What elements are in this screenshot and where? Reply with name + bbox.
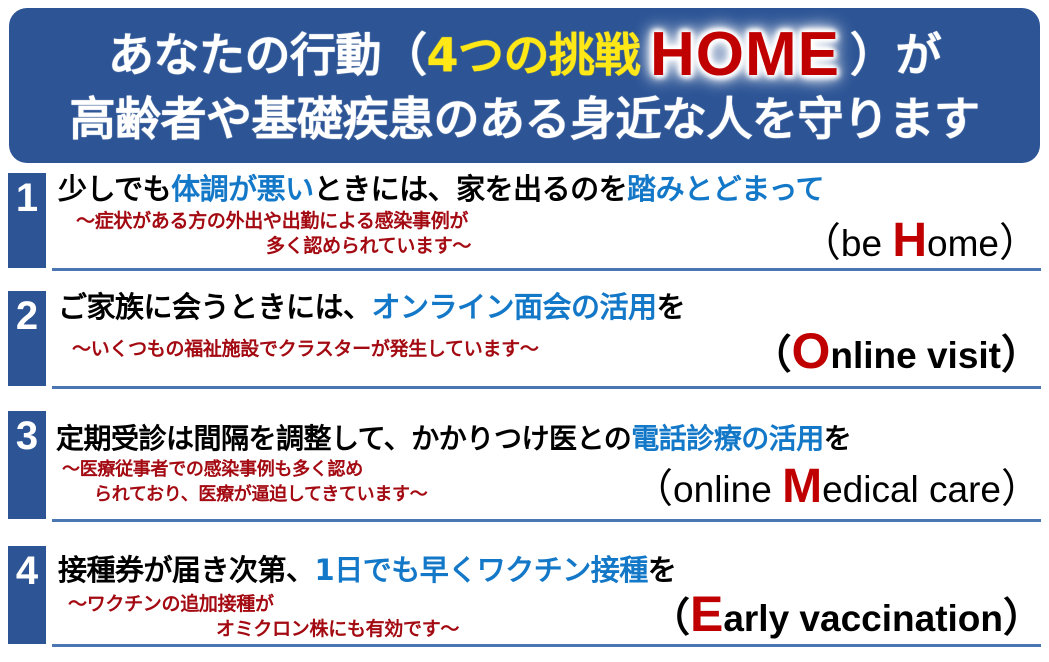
headline-part-emphasis: オンライン面会の活用 — [372, 290, 657, 324]
headline-part: ときには、家を出るのを — [314, 172, 628, 206]
section-number-badge-3: 3 — [8, 411, 46, 519]
section-divider-3 — [52, 519, 1041, 522]
english-rest: edical care — [822, 469, 1001, 510]
section-english-phrase-3: （online Medical care） — [633, 465, 1041, 512]
challenge-section-3: 3 定期受診は間隔を調整して、かかりつけ医との電話診療の活用を 〜医療従事者での… — [0, 409, 1049, 531]
headline-part: を — [648, 553, 677, 587]
section-headline-3: 定期受診は間隔を調整して、かかりつけ医との電話診療の活用を — [56, 421, 851, 457]
note-line-1: 〜いくつもの福祉施設でクラスターが発生しています〜 — [72, 338, 539, 360]
section-headline-1: 少しでも体調が悪いときには、家を出るのを踏みとどまって — [58, 171, 824, 207]
section-number-badge-4: 4 — [8, 546, 46, 644]
paren-close: ） — [999, 221, 1039, 265]
banner-line-2: 高齢者や基礎疾患のある身近な人を守ります — [9, 90, 1040, 148]
paren-open: （ — [801, 221, 841, 265]
banner-text-suffix: ）が — [850, 28, 941, 82]
paren-close: ） — [1001, 333, 1041, 377]
english-prefix: be — [841, 223, 892, 264]
note-line-1: 〜医療従事者での感染事例も多く認め — [62, 459, 363, 480]
challenge-section-1: 1 少しでも体調が悪いときには、家を出るのを踏みとどまって 〜症状がある方の外出… — [0, 171, 1049, 279]
section-divider-2 — [52, 386, 1041, 389]
paren-open: （ — [650, 596, 690, 640]
banner-text-highlight: 4つの挑戦 — [426, 28, 640, 82]
english-acronym-letter: H — [892, 214, 927, 267]
english-acronym-letter: O — [791, 323, 830, 379]
section-note-4: 〜ワクチンの追加接種が オミクロン株にも有効です〜 — [68, 592, 459, 642]
paren-open: （ — [751, 333, 791, 377]
banner-line-1: あなたの行動（4つの挑戦HOME）が — [9, 22, 1040, 84]
headline-part: ご家族に会うときには、 — [58, 290, 372, 324]
note-line-2: オミクロン株にも有効です〜 — [68, 617, 459, 642]
banner-text-prefix: あなたの行動（ — [108, 28, 427, 82]
challenge-section-4: 4 接種券が届き次第、1日でも早くワクチン接種を 〜ワクチンの追加接種が オミク… — [0, 544, 1049, 656]
section-note-1: 〜症状がある方の外出や出勤による感染事例が 多く認められています〜 — [76, 209, 471, 259]
paren-close: ） — [1001, 467, 1041, 511]
headline-part: 少しでも — [58, 172, 171, 206]
english-acronym-letter: E — [690, 586, 723, 642]
headline-part-emphasis: 体調が悪い — [171, 172, 314, 206]
section-note-3: 〜医療従事者での感染事例も多く認め られており、医療が逼迫してきています〜 — [62, 457, 427, 507]
headline-part-emphasis: 1日でも早くワクチン接種 — [315, 553, 648, 587]
header-banner: あなたの行動（4つの挑戦HOME）が 高齢者や基礎疾患のある身近な人を守ります — [9, 8, 1040, 163]
english-prefix: online — [673, 469, 782, 510]
headline-part: 定期受診は間隔を調整して、かかりつけ医との — [56, 422, 631, 455]
english-rest: ome — [927, 223, 999, 264]
english-rest: nline visit — [830, 335, 1001, 376]
section-number-badge-2: 2 — [8, 291, 46, 386]
paren-close: ） — [1003, 596, 1043, 640]
section-divider-1 — [52, 268, 1041, 271]
headline-part-emphasis: 踏みとどまって — [627, 172, 824, 206]
section-note-2: 〜いくつもの福祉施設でクラスターが発生しています〜 — [72, 337, 539, 362]
section-headline-4: 接種券が届き次第、1日でも早くワクチン接種を — [58, 552, 676, 588]
section-headline-2: ご家族に会うときには、オンライン面会の活用を — [58, 289, 685, 325]
challenge-section-2: 2 ご家族に会うときには、オンライン面会の活用を 〜いくつもの福祉施設でクラスタ… — [0, 289, 1049, 397]
note-line-1: 〜ワクチンの追加接種が — [68, 593, 274, 615]
section-divider-4 — [52, 644, 1041, 647]
headline-part: を — [657, 290, 686, 324]
headline-part: 接種券が届き次第、 — [58, 553, 315, 587]
paren-open: （ — [633, 467, 673, 511]
section-number-badge-1: 1 — [8, 173, 46, 268]
note-line-1: 〜症状がある方の外出や出勤による感染事例が — [76, 210, 468, 232]
section-english-phrase-4: （Early vaccination） — [650, 592, 1043, 641]
section-english-phrase-1: （be Home） — [801, 219, 1039, 266]
headline-part-emphasis: 電話診療の活用 — [631, 422, 824, 455]
note-line-2: 多く認められています〜 — [76, 234, 471, 259]
english-acronym-letter: M — [782, 460, 822, 513]
banner-acronym-home: HOME — [640, 20, 850, 89]
section-english-phrase-2: （Online visit） — [751, 329, 1041, 378]
english-rest: arly vaccination — [723, 598, 1003, 639]
note-line-2: られており、医療が逼迫してきています〜 — [62, 482, 427, 507]
headline-part: を — [824, 422, 852, 455]
